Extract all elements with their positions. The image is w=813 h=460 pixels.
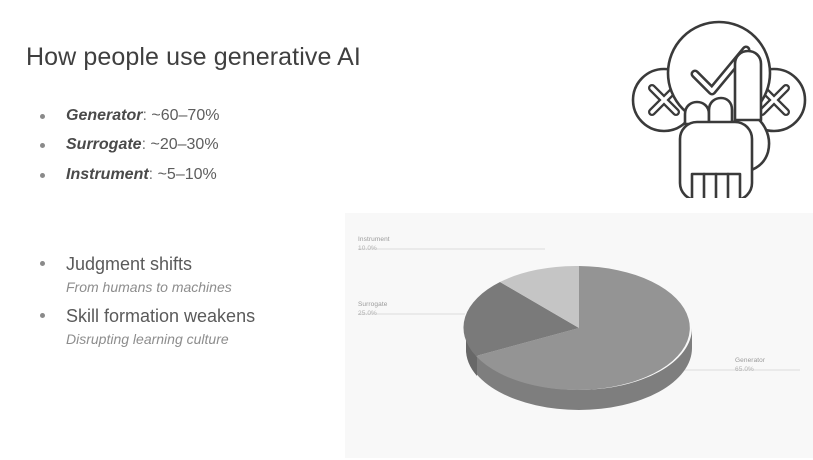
impact-heading: Skill formation weakens <box>66 304 255 328</box>
pie-label-generator: Generator 65.0% <box>735 356 765 375</box>
illustration-svg <box>622 2 812 198</box>
role-value: ~5–10% <box>158 166 217 183</box>
bullet-dot-icon <box>40 261 45 266</box>
pie-top-faces <box>463 266 689 390</box>
list-item: Generator: ~60–70% <box>36 106 219 126</box>
page-title: How people use generative AI <box>26 43 361 72</box>
role-value: ~60–70% <box>151 107 219 124</box>
pie-label-instrument: Instrument 10.0% <box>358 235 390 254</box>
hand-pointing-at-checkmark-illustration <box>622 2 812 198</box>
list-item: Skill formation weakens Disrupting learn… <box>36 304 255 350</box>
pie-label-surrogate-percent: 25.0% <box>358 309 387 318</box>
pie-label-instrument-percent: 10.0% <box>358 244 390 253</box>
pie-chart-svg <box>345 213 813 458</box>
pie-label-surrogate: Surrogate 25.0% <box>358 300 387 319</box>
role-value: ~20–30% <box>150 136 218 153</box>
roles-bullet-list: Generator: ~60–70% Surrogate: ~20–30% In… <box>36 106 219 194</box>
role-name: Instrument <box>66 166 149 183</box>
role-name: Generator <box>66 107 142 124</box>
bullet-dot-icon <box>40 143 45 148</box>
impact-subtext: From humans to machines <box>66 277 255 297</box>
pie-label-surrogate-text: Surrogate <box>358 301 387 308</box>
role-separator: : <box>149 166 153 183</box>
pie-label-generator-percent: 65.0% <box>735 365 765 374</box>
bullet-dot-icon <box>40 114 45 119</box>
pie-label-generator-text: Generator <box>735 357 765 364</box>
pie-label-instrument-text: Instrument <box>358 236 390 243</box>
role-separator: : <box>142 136 146 153</box>
impact-subtext: Disrupting learning culture <box>66 329 255 349</box>
list-item: Surrogate: ~20–30% <box>36 135 219 155</box>
impact-heading: Judgment shifts <box>66 252 255 276</box>
role-line: Surrogate: ~20–30% <box>66 136 219 153</box>
slide-root: How people use generative AI Generator: … <box>0 0 813 460</box>
role-line: Generator: ~60–70% <box>66 107 219 124</box>
bullet-dot-icon <box>40 313 45 318</box>
wrist-cuff-shape <box>692 174 740 198</box>
role-name: Surrogate <box>66 136 142 153</box>
list-item: Instrument: ~5–10% <box>36 165 219 185</box>
list-item: Judgment shifts From humans to machines <box>36 252 255 298</box>
impacts-bullet-list: Judgment shifts From humans to machines … <box>36 252 255 355</box>
role-separator: : <box>142 107 146 124</box>
pie-chart-panel: Instrument 10.0% Surrogate 25.0% Generat… <box>345 213 813 458</box>
bullet-dot-icon <box>40 173 45 178</box>
index-finger-shape <box>735 51 761 120</box>
role-line: Instrument: ~5–10% <box>66 166 217 183</box>
